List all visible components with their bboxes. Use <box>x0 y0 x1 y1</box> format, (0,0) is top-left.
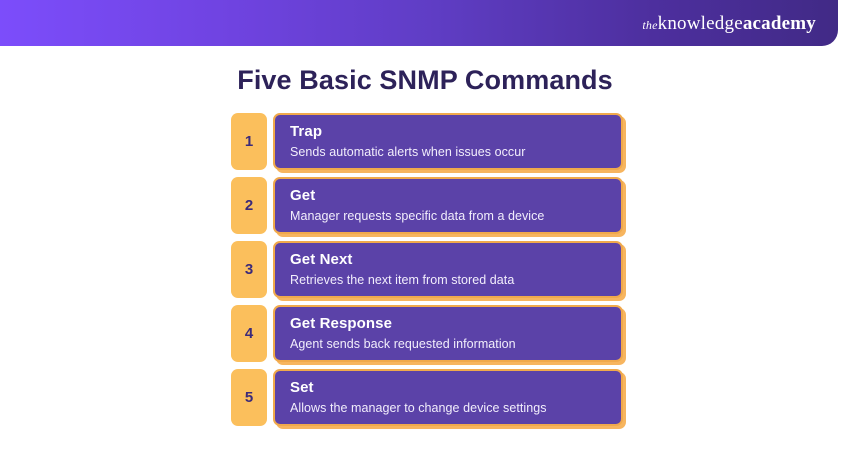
brand-logo-knowledge: knowledge <box>658 13 743 34</box>
header-banner: theknowledgeacademy <box>0 0 838 46</box>
command-bar: Trap Sends automatic alerts when issues … <box>273 113 623 170</box>
command-row: 2 Get Manager requests specific data fro… <box>231 177 623 234</box>
command-name: Get Next <box>290 251 621 270</box>
command-number-badge: 3 <box>231 241 267 298</box>
command-name: Trap <box>290 123 621 142</box>
command-number-badge: 2 <box>231 177 267 234</box>
command-bar: Get Manager requests specific data from … <box>273 177 623 234</box>
command-row: 3 Get Next Retrieves the next item from … <box>231 241 623 298</box>
command-name: Get Response <box>290 315 621 334</box>
command-bar: Set Allows the manager to change device … <box>273 369 623 426</box>
command-bar: Get Response Agent sends back requested … <box>273 305 623 362</box>
command-name: Get <box>290 187 621 206</box>
page-title: Five Basic SNMP Commands <box>0 64 850 96</box>
command-row: 5 Set Allows the manager to change devic… <box>231 369 623 426</box>
brand-logo-academy: academy <box>743 13 816 34</box>
command-list: 1 Trap Sends automatic alerts when issue… <box>231 113 623 426</box>
brand-logo-the: the <box>642 18 657 32</box>
command-description: Sends automatic alerts when issues occur <box>290 144 621 160</box>
command-description: Allows the manager to change device sett… <box>290 400 621 416</box>
command-description: Retrieves the next item from stored data <box>290 272 621 288</box>
command-row: 4 Get Response Agent sends back requeste… <box>231 305 623 362</box>
command-row: 1 Trap Sends automatic alerts when issue… <box>231 113 623 170</box>
command-bar: Get Next Retrieves the next item from st… <box>273 241 623 298</box>
command-description: Agent sends back requested information <box>290 336 621 352</box>
command-number-badge: 5 <box>231 369 267 426</box>
command-name: Set <box>290 379 621 398</box>
command-description: Manager requests specific data from a de… <box>290 208 621 224</box>
command-number-badge: 1 <box>231 113 267 170</box>
brand-logo: theknowledgeacademy <box>642 14 816 33</box>
command-number-badge: 4 <box>231 305 267 362</box>
